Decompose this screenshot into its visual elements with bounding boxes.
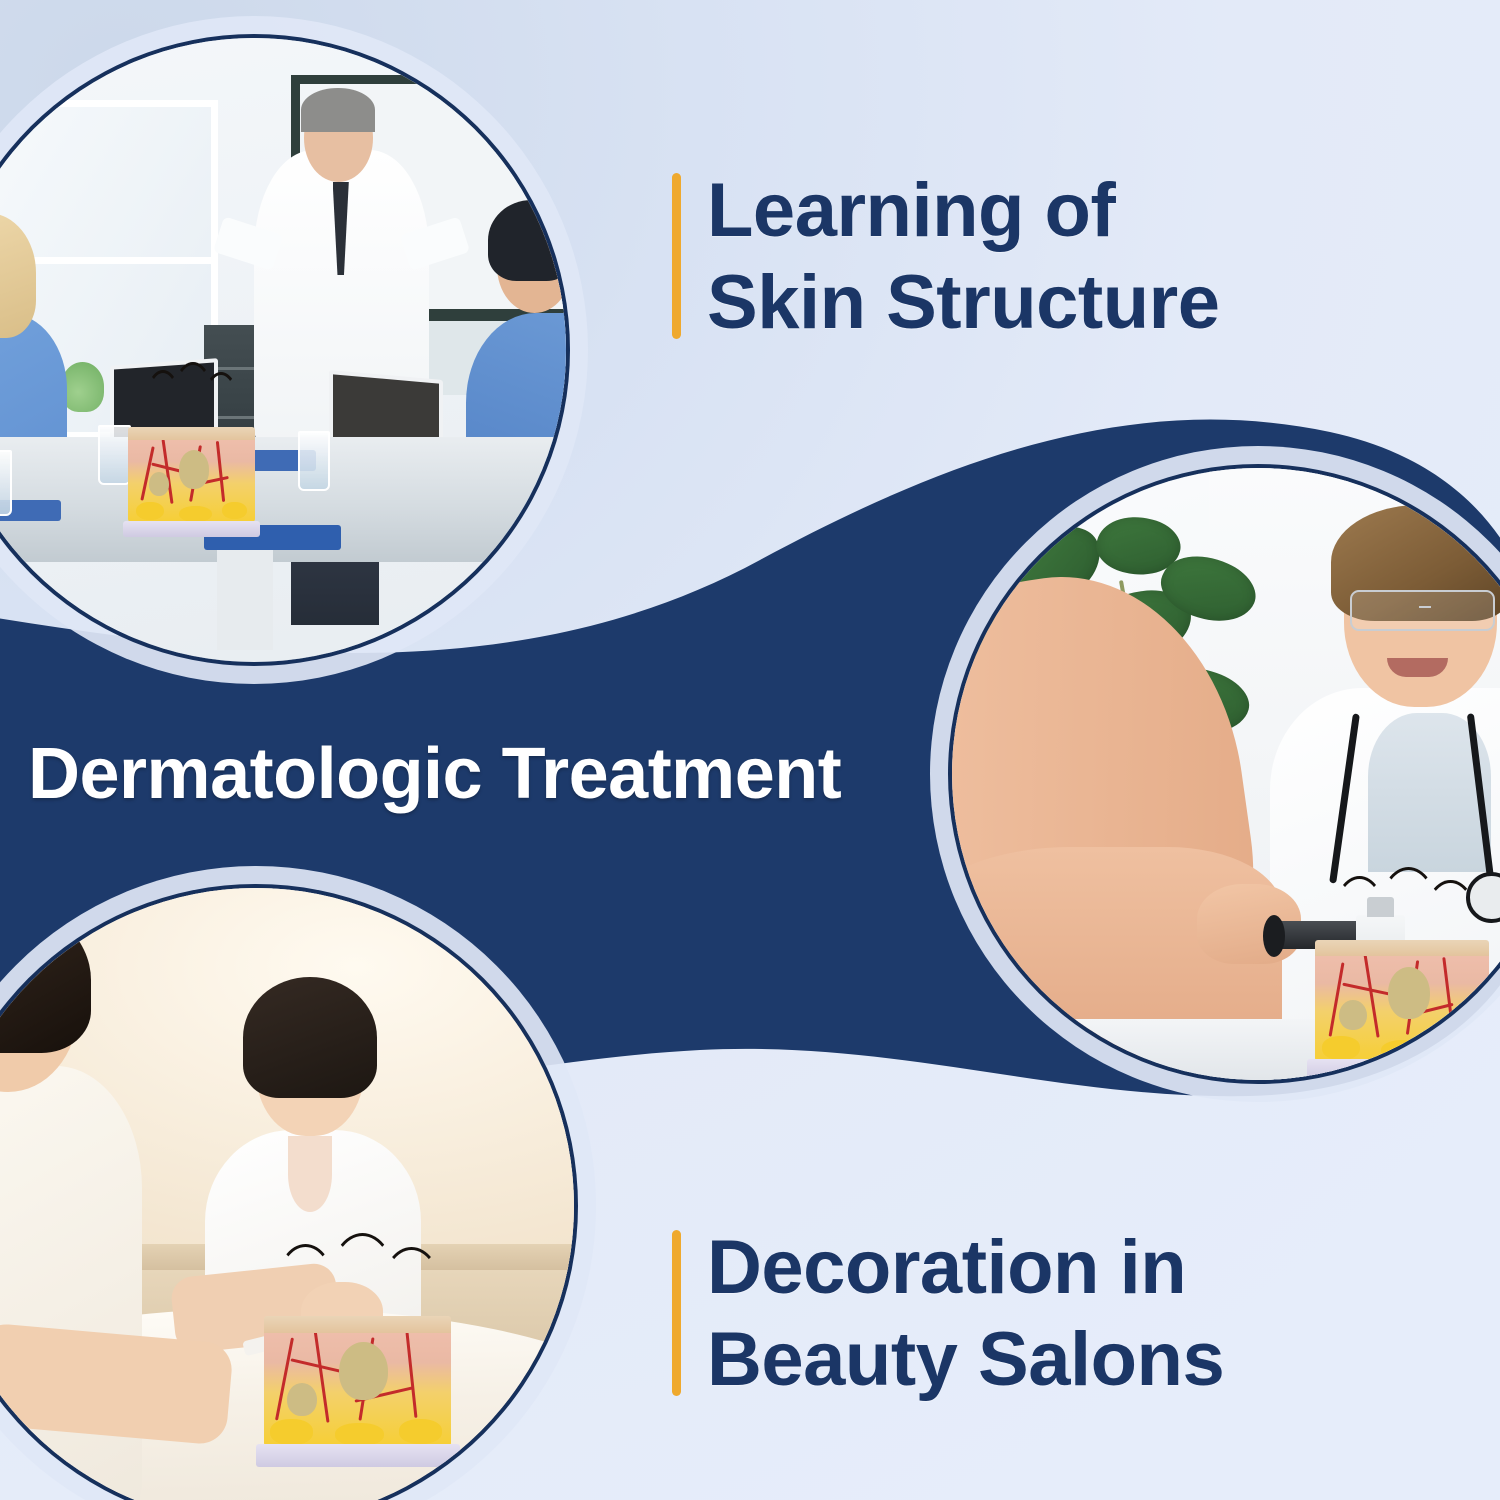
photo-circle-learning xyxy=(0,38,566,662)
heading-learning-of-skin-structure: Learning of Skin Structure xyxy=(672,165,1219,349)
accent-bar-icon xyxy=(672,1230,681,1396)
heading-learning-text: Learning of Skin Structure xyxy=(707,165,1219,349)
photo-circle-treatment xyxy=(952,468,1500,1080)
skin-anatomy-model xyxy=(1307,921,1497,1080)
page-title: Dermatologic Treatment xyxy=(28,738,841,810)
photo-salon-image xyxy=(0,888,574,1500)
heading-decoration-in-beauty-salons: Decoration in Beauty Salons xyxy=(672,1222,1224,1406)
promo-banner: Learning of Skin Structure Dermatologic … xyxy=(0,0,1500,1500)
photo-treatment-image xyxy=(952,468,1500,1080)
photo-learning-image xyxy=(0,38,566,662)
skin-anatomy-model xyxy=(123,412,260,537)
skin-anatomy-model xyxy=(256,1295,460,1467)
accent-bar-icon xyxy=(672,173,681,339)
heading-salon-text: Decoration in Beauty Salons xyxy=(707,1222,1224,1406)
photo-circle-salon xyxy=(0,888,574,1500)
